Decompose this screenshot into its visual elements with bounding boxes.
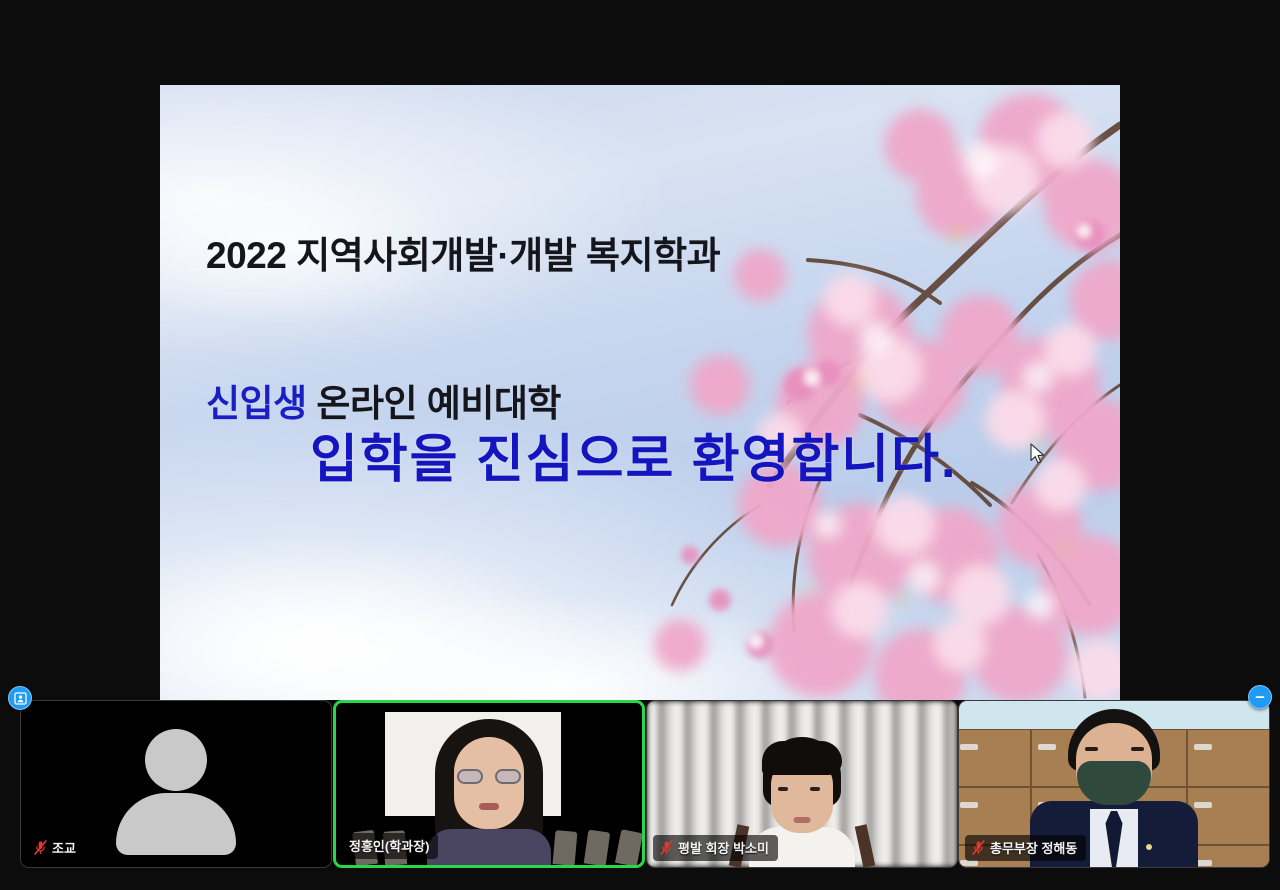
nameplate: 평발 회장 박소미	[653, 835, 778, 861]
participant-tile[interactable]: 정홍인(학과장)	[333, 700, 645, 868]
person-torso	[427, 829, 551, 865]
slide-title-line-1: 2022 지역사회개발·개발 복지학과	[206, 231, 720, 280]
slide-title-highlight: 신입생	[206, 383, 307, 424]
gallery-view-icon	[14, 692, 27, 705]
participant-name: 평발 회장 박소미	[678, 838, 769, 857]
nameplate: 정홍인(학과장)	[342, 833, 438, 859]
person-mouth	[479, 803, 499, 810]
shared-screen-stage[interactable]: 2022 지역사회개발·개발 복지학과 신입생 온라인 예비대학 입학을 진심으…	[0, 0, 1280, 700]
lapel-pin	[1146, 844, 1152, 850]
participant-tile[interactable]: 총무부장 정해동	[958, 700, 1270, 868]
eyeglasses	[457, 769, 521, 784]
mouse-pointer	[1030, 443, 1046, 465]
participant-tile[interactable]: 조교	[20, 700, 332, 868]
avatar-body	[116, 793, 236, 855]
shared-presentation-slide[interactable]: 2022 지역사회개발·개발 복지학과 신입생 온라인 예비대학 입학을 진심으…	[160, 85, 1120, 700]
person-fringe	[762, 741, 842, 775]
participant-name: 정홍인(학과장)	[349, 836, 429, 855]
mic-muted-icon	[972, 840, 985, 855]
participant-name: 총무부장 정해동	[990, 838, 1077, 857]
slide-headline: 입학을 진심으로 환영합니다.	[310, 417, 957, 492]
mic-muted-icon	[34, 840, 47, 855]
minimize-button[interactable]	[1248, 685, 1272, 709]
participant-tile[interactable]: 평발 회장 박소미	[646, 700, 958, 868]
mic-muted-icon	[660, 840, 673, 855]
nameplate: 조교	[27, 835, 85, 861]
gallery-view-button[interactable]	[8, 686, 32, 710]
video-conference-window: 2022 지역사회개발·개발 복지학과 신입생 온라인 예비대학 입학을 진심으…	[0, 0, 1280, 890]
participant-name: 조교	[52, 838, 76, 857]
avatar-head	[145, 729, 207, 791]
nameplate: 총무부장 정해동	[965, 835, 1086, 861]
person-mouth	[794, 817, 811, 823]
participant-filmstrip: 조교	[0, 700, 1280, 890]
minus-icon	[1253, 690, 1267, 704]
